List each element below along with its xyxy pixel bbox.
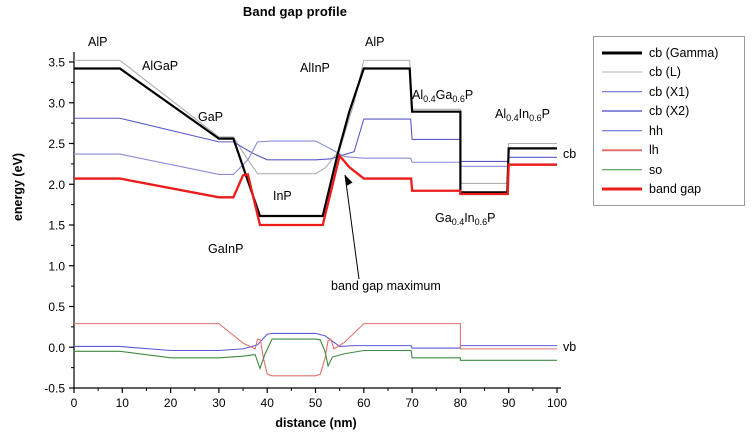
y-tick-label: 0.0 <box>48 341 65 355</box>
legend-swatch-icon <box>602 184 642 195</box>
annotation-alp-left: AlP <box>88 35 107 49</box>
annotation-gainp: GaInP <box>208 242 243 256</box>
legend-item-lh[interactable]: lh <box>602 141 738 161</box>
annotation-band-gap-maximum: band gap maximum <box>331 279 441 293</box>
y-tick-label: 1.5 <box>48 219 65 233</box>
x-tick-label: 90 <box>502 396 516 410</box>
series-line-cb-l <box>74 60 557 183</box>
y-tick-label: 3.0 <box>48 96 65 110</box>
y-tick-label: -0.5 <box>44 382 65 396</box>
x-tick-label: 50 <box>309 396 323 410</box>
band-label-vb: vb <box>563 340 576 354</box>
x-tick-label: 100 <box>547 396 567 410</box>
legend-item-label: cb (Gamma) <box>642 46 718 60</box>
series-line-lh <box>74 324 557 376</box>
x-tick-label: 60 <box>357 396 371 410</box>
legend-item-label: cb (X1) <box>642 85 689 99</box>
legend-swatch-icon <box>602 86 642 97</box>
y-tick-label: 2.0 <box>48 178 65 192</box>
y-tick-label: 1.0 <box>48 259 65 273</box>
legend-item-hh[interactable]: hh <box>602 121 738 141</box>
x-tick-label: 0 <box>71 396 78 410</box>
annotation-arrow-line <box>345 175 359 279</box>
legend-item-so[interactable]: so <box>602 160 738 180</box>
legend: cb (Gamma)cb (L)cb (X1)cb (X2)hhlhsoband… <box>593 36 745 206</box>
y-tick-label: 0.5 <box>48 300 65 314</box>
series-line-hh <box>74 333 557 350</box>
annotation-algap-composition: Al0.4Ga0.6P <box>412 88 473 104</box>
legend-item-label: lh <box>642 143 659 157</box>
annotation-gainp-composition: Ga0.4In0.6P <box>435 211 496 227</box>
x-tick-label: 80 <box>454 396 468 410</box>
band-gap-profile-figure: Band gap profile energy (eV) distance (n… <box>0 0 752 441</box>
legend-item-cb-l[interactable]: cb (L) <box>602 63 738 83</box>
series-line-cb-x1 <box>74 118 557 161</box>
annotation-alinp: AlInP <box>300 61 330 75</box>
y-tick-label: 2.5 <box>48 137 65 151</box>
legend-item-label: so <box>642 163 662 177</box>
series-line-so <box>74 339 557 368</box>
legend-swatch-icon <box>602 47 642 58</box>
annotation-alinp-composition: Al0.4In0.6P <box>495 107 550 123</box>
band-label-cb: cb <box>563 147 576 161</box>
x-tick-label: 40 <box>261 396 275 410</box>
annotation-inp: InP <box>273 189 292 203</box>
x-tick-label: 30 <box>212 396 226 410</box>
x-tick-label: 70 <box>405 396 419 410</box>
legend-item-cb-x2[interactable]: cb (X2) <box>602 102 738 122</box>
y-tick-label: 3.5 <box>48 56 65 70</box>
legend-swatch-icon <box>602 164 642 175</box>
legend-swatch-icon <box>602 125 642 136</box>
legend-item-label: hh <box>642 124 663 138</box>
series-line-cb-x2 <box>74 141 557 174</box>
legend-swatch-icon <box>602 145 642 156</box>
legend-item-cb-gamma[interactable]: cb (Gamma) <box>602 43 738 63</box>
legend-swatch-icon <box>602 106 642 117</box>
legend-item-band-gap[interactable]: band gap <box>602 180 738 200</box>
annotation-alp-right: AlP <box>365 35 384 49</box>
annotation-gap: GaP <box>198 110 223 124</box>
x-tick-label: 20 <box>164 396 178 410</box>
legend-item-label: band gap <box>642 182 701 196</box>
legend-item-label: cb (L) <box>642 65 681 79</box>
annotation-algap: AlGaP <box>142 59 178 73</box>
legend-swatch-icon <box>602 67 642 78</box>
legend-item-label: cb (X2) <box>642 104 689 118</box>
legend-item-cb-x1[interactable]: cb (X1) <box>602 82 738 102</box>
x-tick-label: 10 <box>116 396 130 410</box>
